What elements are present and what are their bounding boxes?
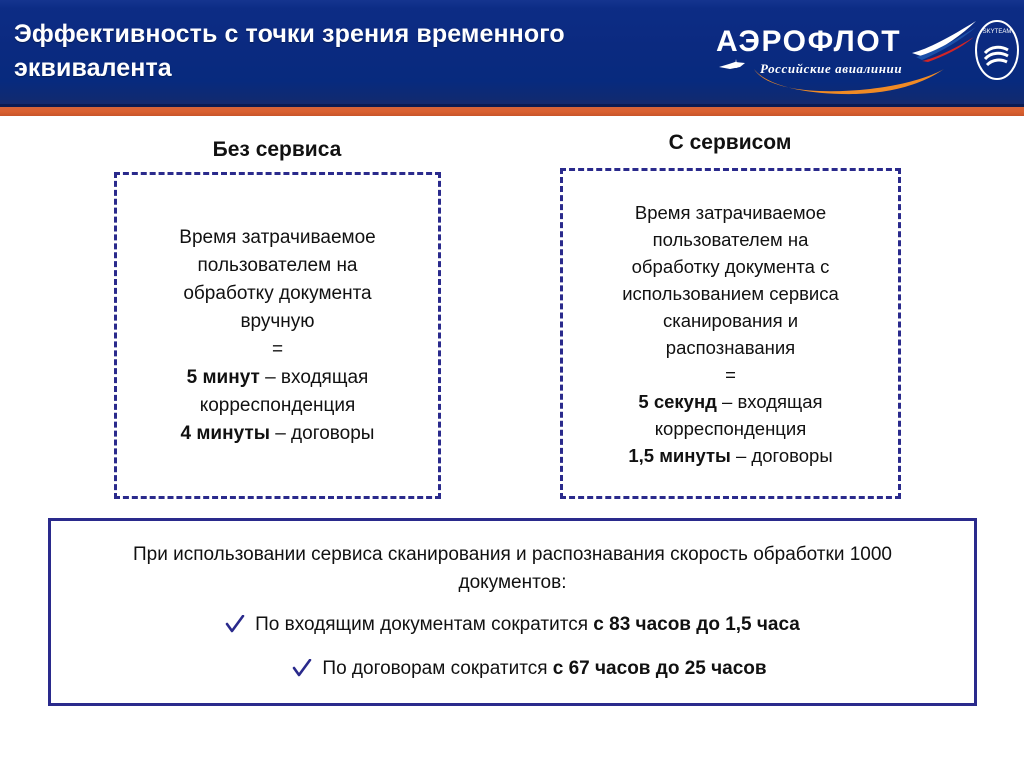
skyteam-label: SKYTEAM — [983, 29, 1012, 35]
aeroflot-logo: АЭРОФЛОТ Российские авиалинии SKYTEAM — [716, 11, 1016, 95]
header-sheen — [0, 0, 1024, 8]
panel-without-service: Время затрачиваемоепользователем наобраб… — [114, 172, 441, 499]
orange-swoosh-icon — [752, 67, 946, 95]
skyteam-icon: SKYTEAM — [974, 19, 1020, 81]
panel-without-service-text: Время затрачиваемоепользователем наобраб… — [117, 224, 438, 448]
panel-with-service-text: Время затрачиваемоепользователем наобраб… — [563, 199, 898, 469]
column-heading-without-service: Без сервиса — [114, 138, 440, 162]
panel-with-service: Время затрачиваемоепользователем наобраб… — [560, 168, 901, 499]
summary-intro-text: При использовании сервиса сканирования и… — [51, 541, 974, 597]
summary-bullet-contracts: По договорам сократится с 67 часов до 25… — [51, 655, 974, 683]
russian-flag-ribbon-icon — [910, 19, 978, 63]
logo-wordmark: АЭРОФЛОТ — [716, 25, 901, 59]
summary-bullet-incoming: По входящим документам сократится с 83 ч… — [51, 611, 974, 639]
summary-bullet-incoming-text: По входящим документам сократится с 83 ч… — [255, 611, 800, 639]
slide-root: Эффективность с точки зрения временного … — [0, 0, 1024, 767]
summary-panel: При использовании сервиса сканирования и… — [48, 518, 977, 706]
wing-emblem-icon — [718, 58, 748, 74]
page-title: Эффективность с точки зрения временного … — [14, 17, 674, 85]
summary-bullet-contracts-text: По договорам сократится с 67 часов до 25… — [322, 655, 766, 683]
checkmark-icon — [292, 659, 312, 679]
header-accent-stripe — [0, 107, 1024, 116]
column-heading-with-service: С сервисом — [560, 131, 900, 155]
checkmark-icon — [225, 615, 245, 635]
header-bar: Эффективность с точки зрения временного … — [0, 0, 1024, 104]
